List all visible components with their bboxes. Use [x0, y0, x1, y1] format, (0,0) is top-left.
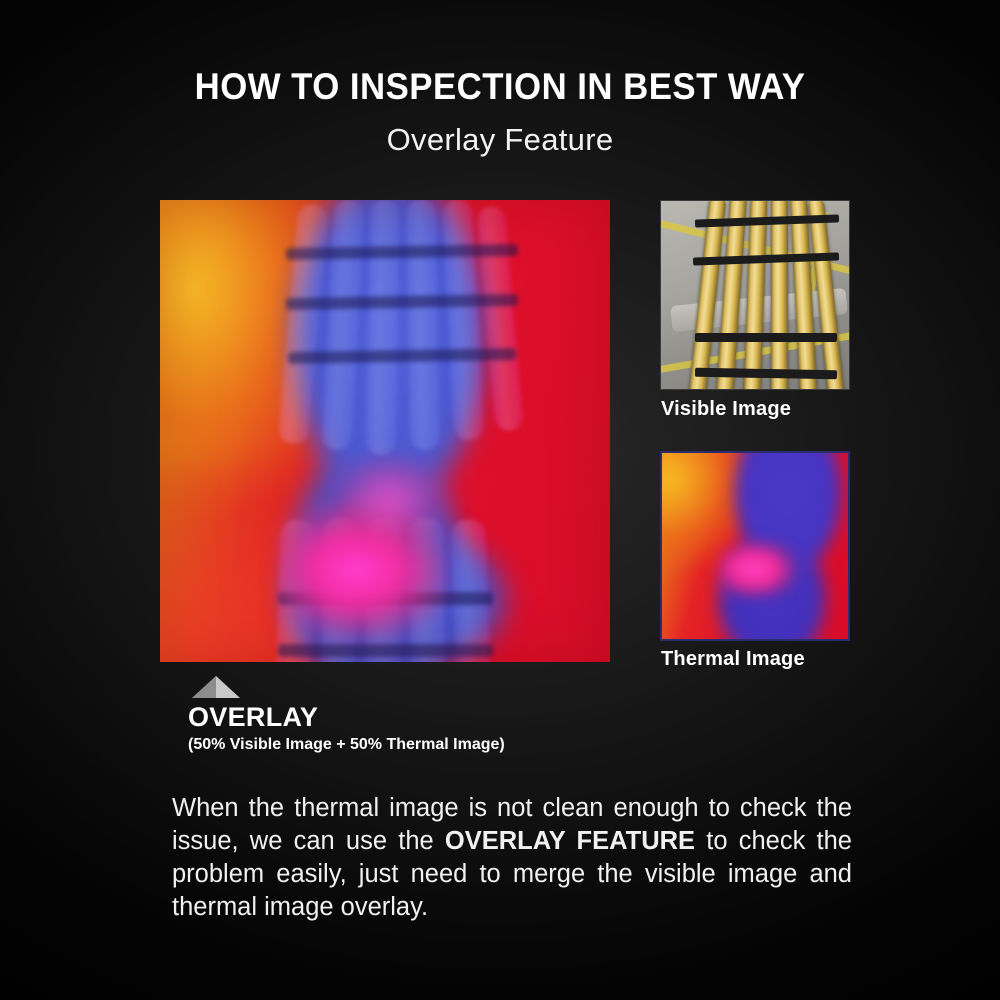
- thermal-image-caption: Thermal Image: [661, 648, 805, 671]
- body-highlight: OVERLAY FEATURE: [445, 827, 695, 855]
- visible-image-pipe: [771, 200, 788, 390]
- thermal-image: [660, 451, 850, 641]
- overlay-label-title: OVERLAY: [188, 702, 318, 733]
- overlay-composite-image: [160, 200, 610, 662]
- overlay-label-subtitle: (50% Visible Image + 50% Thermal Image): [188, 736, 505, 754]
- overlay-pipe: [366, 200, 400, 455]
- visible-image-caption: Visible Image: [661, 398, 791, 421]
- overlay-image-canvas: [160, 200, 610, 662]
- overlay-hotspot-pink-upper: [330, 455, 450, 545]
- overlay-pipe-band: [278, 644, 493, 657]
- visible-image-pipe-band: [695, 333, 837, 342]
- thermal-image-frame: [660, 451, 850, 641]
- page-title: HOW TO INSPECTION IN BEST WAY: [30, 66, 970, 108]
- overlay-pipe: [451, 519, 491, 662]
- page-subtitle: Overlay Feature: [0, 122, 1000, 158]
- visible-image: [660, 200, 850, 390]
- body-paragraph: When the thermal image is not clean enou…: [172, 792, 852, 924]
- overlay-pipe: [406, 200, 440, 450]
- slide-root: HOW TO INSPECTION IN BEST WAY Overlay Fe…: [0, 0, 1000, 1000]
